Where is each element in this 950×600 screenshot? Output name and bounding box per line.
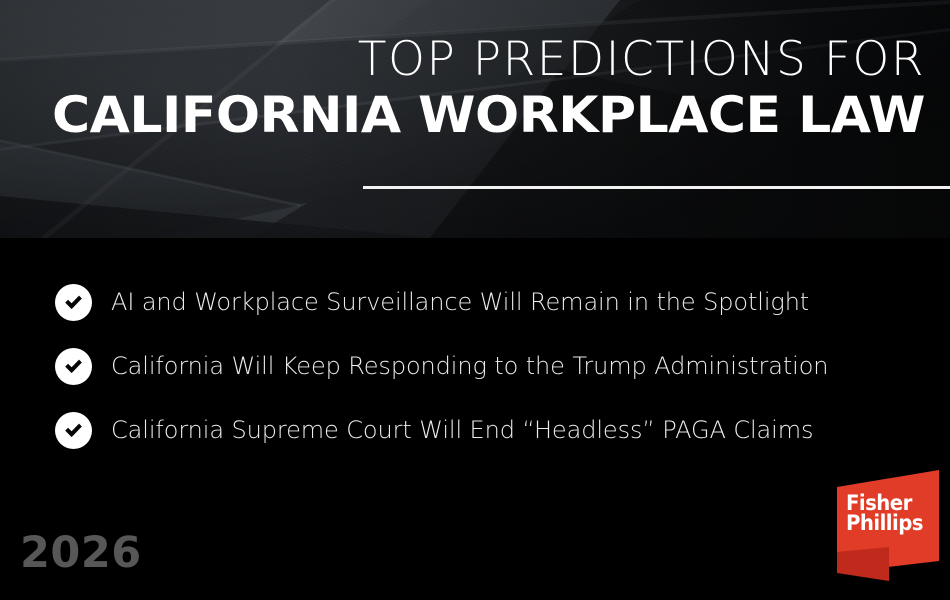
list-item-label: AI and Workplace Surveillance Will Remai… bbox=[111, 290, 809, 314]
title-line-2: CALIFORNIA WORKPLACE LAW bbox=[0, 87, 925, 143]
logo-line-1: Fisher bbox=[846, 493, 923, 513]
predictions-list: AI and Workplace Surveillance Will Remai… bbox=[0, 270, 950, 462]
title-line-1: TOP PREDICTIONS FOR bbox=[20, 36, 925, 85]
list-item-label: California Supreme Court Will End “Headl… bbox=[111, 418, 813, 442]
list-item[interactable]: California Supreme Court Will End “Headl… bbox=[0, 398, 950, 462]
check-circle-icon bbox=[55, 284, 92, 321]
title-divider bbox=[363, 186, 950, 189]
header-banner: TOP PREDICTIONS FOR CALIFORNIA WORKPLACE… bbox=[0, 0, 950, 238]
page-title: TOP PREDICTIONS FOR CALIFORNIA WORKPLACE… bbox=[20, 36, 925, 143]
list-item-label: California Will Keep Responding to the T… bbox=[111, 354, 828, 378]
fisher-phillips-logo[interactable]: Fisher Phillips bbox=[830, 468, 946, 583]
logo-wordmark: Fisher Phillips bbox=[846, 493, 923, 533]
social-card: TOP PREDICTIONS FOR CALIFORNIA WORKPLACE… bbox=[0, 0, 950, 600]
check-circle-icon bbox=[55, 348, 92, 385]
list-item[interactable]: California Will Keep Responding to the T… bbox=[0, 334, 950, 398]
year-label: 2026 bbox=[20, 532, 142, 575]
check-circle-icon bbox=[55, 412, 92, 449]
list-item[interactable]: AI and Workplace Surveillance Will Remai… bbox=[0, 270, 950, 334]
logo-line-2: Phillips bbox=[846, 513, 923, 533]
